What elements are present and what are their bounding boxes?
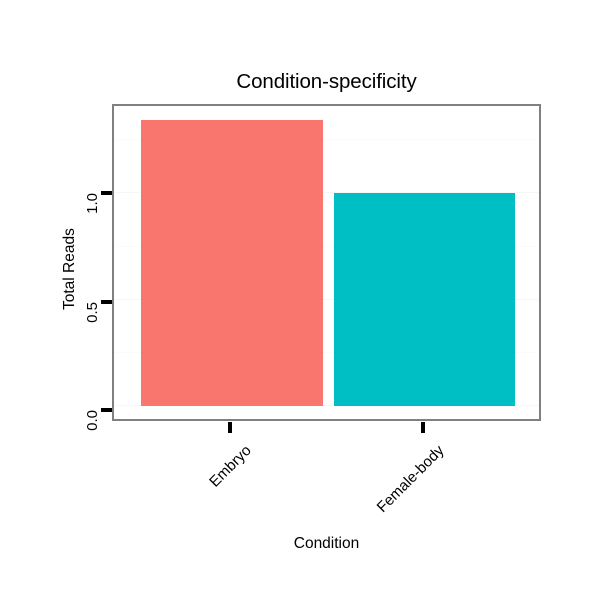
y-tick-label-0.0: 0.0 <box>84 410 102 431</box>
x-axis-title: Condition <box>112 535 541 553</box>
plot-area <box>114 106 539 419</box>
x-tick-label-female-body: Female-body <box>374 442 448 516</box>
y-tick-mark-0.5 <box>101 300 112 304</box>
bar-female-body[interactable] <box>334 193 515 406</box>
x-tick-label-embryo: Embryo <box>206 442 255 491</box>
y-tick-label-1.0: 1.0 <box>84 193 102 214</box>
y-tick-label-0.5: 0.5 <box>84 302 102 323</box>
y-axis-title: Total Reads <box>61 228 79 310</box>
plot-panel <box>112 104 541 421</box>
page-title: Condition-specificity <box>112 70 541 94</box>
bar-embryo[interactable] <box>141 120 323 406</box>
y-tick-mark-0.0 <box>101 408 112 412</box>
x-tick-mark-female-body <box>421 422 425 433</box>
x-tick-mark-embryo <box>228 422 232 433</box>
y-tick-mark-1.0 <box>101 191 112 195</box>
chart-figure: Condition-specificity 1.0 0.5 0.0 Total … <box>0 0 600 600</box>
